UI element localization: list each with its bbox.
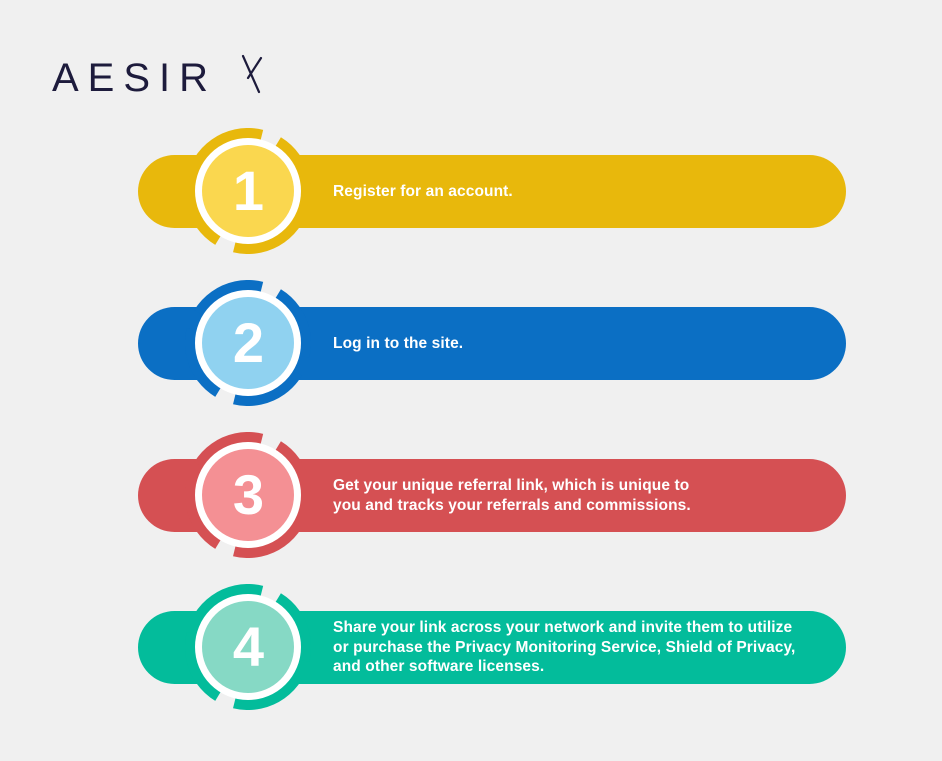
infographic-canvas: AESIR Register for an account.1Log in to… [0, 0, 942, 761]
step-number-badge: 3 [185, 432, 311, 558]
step-description-line: Log in to the site. [333, 334, 833, 354]
step-badge-circle: 2 [202, 297, 294, 389]
brand-logo: AESIR [52, 55, 282, 111]
step-description: Get your unique referral link, which is … [333, 459, 833, 532]
step-description: Share your link across your network and … [333, 611, 833, 684]
step-row: Share your link across your network and … [0, 572, 942, 724]
step-row: Log in to the site.2 [0, 268, 942, 420]
step-description: Log in to the site. [333, 307, 833, 380]
step-number: 2 [233, 315, 263, 371]
step-number-badge: 2 [185, 280, 311, 406]
step-badge-circle: 3 [202, 449, 294, 541]
brand-wordmark: AESIR [52, 55, 217, 101]
step-description-line: Register for an account. [333, 182, 833, 202]
step-number-badge: 4 [185, 584, 311, 710]
step-description-line: Get your unique referral link, which is … [333, 476, 833, 496]
step-description-line: Share your link across your network and … [333, 618, 833, 638]
step-number-badge: 1 [185, 128, 311, 254]
step-description-line: and other software licenses. [333, 657, 833, 677]
step-number: 1 [233, 163, 263, 219]
step-description-line: or purchase the Privacy Monitoring Servi… [333, 638, 833, 658]
step-row: Get your unique referral link, which is … [0, 420, 942, 572]
step-row: Register for an account.1 [0, 116, 942, 268]
step-badge-circle: 1 [202, 145, 294, 237]
step-badge-circle: 4 [202, 601, 294, 693]
aesir-x-mark-icon [234, 52, 268, 103]
step-number: 3 [233, 467, 263, 523]
step-description: Register for an account. [333, 155, 833, 228]
step-number: 4 [233, 619, 263, 675]
step-description-line: you and tracks your referrals and commis… [333, 496, 833, 516]
